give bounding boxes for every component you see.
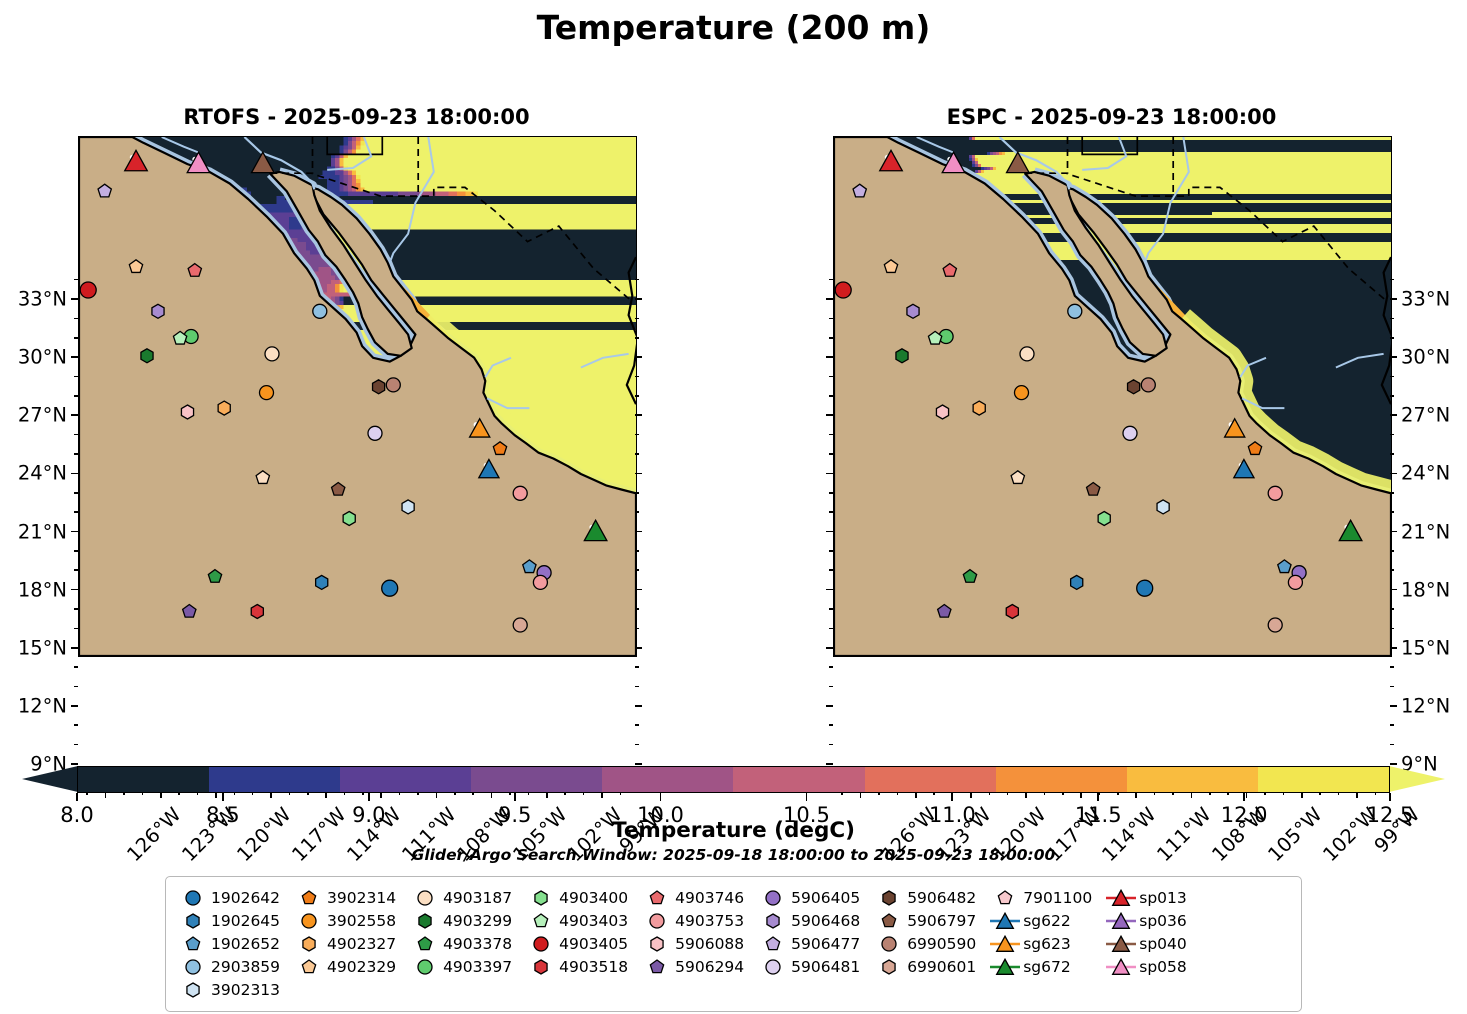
legend-item-3902313[interactable]: 3902313 (178, 978, 294, 1001)
lat-minor-tick (1390, 453, 1394, 455)
legend-item-4903397[interactable]: 4903397 (410, 955, 526, 978)
legend-item-label: sp040 (1136, 935, 1201, 953)
legend-marker-icon (178, 886, 208, 909)
legend-marker-icon (642, 955, 672, 978)
lat-minor-tick (74, 628, 78, 630)
lat-minor-tick (635, 511, 639, 513)
legend-marker-icon (1106, 955, 1136, 978)
legend-marker-icon (410, 932, 440, 955)
lat-tick (826, 473, 833, 475)
lat-tick (826, 763, 833, 765)
lat-minor-tick (829, 569, 833, 571)
legend-item-label: 4903187 (440, 889, 526, 907)
lat-tick (71, 298, 78, 300)
map-marker-4903187 (1020, 347, 1034, 361)
colorbar-tick (368, 793, 370, 801)
lat-tick (71, 763, 78, 765)
map-marker-5906468 (152, 304, 164, 318)
legend-marker-icon (526, 932, 556, 955)
lat-tick (1390, 531, 1397, 533)
lat-minor-tick (1390, 550, 1394, 552)
lat-minor-tick (1390, 279, 1394, 281)
lat-minor-tick (635, 492, 639, 494)
legend-item-label: 5906477 (788, 935, 874, 953)
lat-tick (71, 647, 78, 649)
legend-item-label: 4902327 (324, 935, 410, 953)
lat-minor-tick (829, 666, 833, 668)
colorbar-tick (951, 793, 953, 801)
map-marker-4903753b (533, 575, 547, 589)
lat-minor-tick (1390, 318, 1394, 320)
colorbar-band (340, 767, 471, 792)
legend-marker-icon (990, 932, 1020, 955)
lat-tick-label: 15°N (1401, 636, 1450, 659)
legend-item-sp036[interactable]: sp036 (1106, 909, 1201, 932)
lat-tick (1390, 298, 1397, 300)
lat-tick (635, 763, 642, 765)
lat-minor-tick (74, 337, 78, 339)
lat-minor-tick (829, 279, 833, 281)
lat-tick (826, 647, 833, 649)
legend-item-label: 4903518 (556, 958, 642, 976)
legend-item-label: sg672 (1020, 958, 1085, 976)
map-marker-4903400 (1098, 512, 1110, 526)
lat-minor-tick (829, 492, 833, 494)
legend-marker-icon (990, 909, 1020, 932)
lat-minor-tick (829, 376, 833, 378)
legend-item-label: sg623 (1020, 935, 1085, 953)
lat-minor-tick (635, 628, 639, 630)
lat-minor-tick (74, 550, 78, 552)
legend-marker-icon (642, 909, 672, 932)
legend-item-label: 5906482 (904, 889, 990, 907)
lat-tick-label: 24°N (1401, 462, 1450, 485)
map-marker-5906481 (368, 426, 382, 440)
lat-minor-tick (1390, 337, 1394, 339)
lat-minor-tick (1390, 744, 1394, 746)
legend-marker-icon (874, 932, 904, 955)
panel-rtofs: RTOFS - 2025-09-23 18:00:00 33°N30°N27°N… (78, 136, 635, 655)
lat-minor-tick (829, 628, 833, 630)
lat-tick (635, 356, 642, 358)
lat-minor-tick (74, 569, 78, 571)
lat-minor-tick (1390, 569, 1394, 571)
map-marker-1902642 (382, 580, 398, 596)
panel-rtofs-title: RTOFS - 2025-09-23 18:00:00 (78, 105, 635, 129)
legend-item-label: 3902558 (324, 912, 410, 930)
lat-tick (826, 531, 833, 533)
map-marker-4903405 (80, 282, 96, 298)
lat-tick (635, 705, 642, 707)
lat-tick (826, 414, 833, 416)
legend-marker-icon (178, 909, 208, 932)
legend-marker-icon (642, 932, 672, 955)
map-marker-6990590 (1141, 378, 1155, 392)
legend-marker-icon (990, 886, 1020, 909)
lat-minor-tick (1390, 434, 1394, 436)
colorbar-tick (806, 793, 808, 801)
legend-item-5906088[interactable]: 5906088 (642, 932, 758, 955)
legend-marker-icon (874, 955, 904, 978)
legend-item-4903400[interactable]: 4903400 (526, 886, 642, 909)
legend-item-sp040[interactable]: sp040 (1106, 932, 1201, 955)
map-marker-3902313 (1157, 500, 1169, 514)
lat-tick (71, 589, 78, 591)
map-marker-4903187 (265, 347, 279, 361)
map-marker-2903859 (313, 304, 327, 318)
map-axes-espc[interactable] (833, 136, 1392, 657)
colorbar-band (733, 767, 864, 792)
lat-minor-tick (1390, 608, 1394, 610)
legend-marker-icon (758, 932, 788, 955)
map-marker-5906088 (181, 405, 193, 419)
legend-item-5906481[interactable]: 5906481 (758, 955, 874, 978)
legend-marker-icon (758, 955, 788, 978)
lat-minor-tick (635, 744, 639, 746)
lat-minor-tick (74, 686, 78, 688)
map-marker-3902558 (260, 386, 274, 400)
legend-item-3902314[interactable]: 3902314 (294, 886, 410, 909)
map-marker-4903753b (1288, 575, 1302, 589)
lat-tick (635, 589, 642, 591)
legend-column: 7901100sg622sg623sg672 (990, 886, 1106, 978)
legend-item-sp058[interactable]: sp058 (1106, 955, 1201, 978)
colorbar-band (209, 767, 340, 792)
legend-item-4903403[interactable]: 4903403 (526, 909, 642, 932)
lat-tick-label: 24°N (18, 462, 67, 485)
map-marker-4903299 (896, 349, 908, 363)
lat-minor-tick (635, 550, 639, 552)
map-axes-rtofs[interactable] (78, 136, 637, 657)
legend-marker-icon (990, 955, 1020, 978)
legend-item-label: 5906405 (788, 889, 874, 907)
map-marker-6990601 (1268, 618, 1282, 632)
map-marker-1902645 (1071, 575, 1083, 589)
lat-minor-tick (829, 608, 833, 610)
lat-tick (826, 298, 833, 300)
legend-column: 5906405590646859064775906481 (758, 886, 874, 978)
legend-item-label: 5906088 (672, 935, 758, 953)
legend-item-label: 3902313 (208, 981, 294, 999)
map-marker-6990590 (386, 378, 400, 392)
legend-item-7901100[interactable]: 7901100 (990, 886, 1106, 909)
lat-minor-tick (74, 744, 78, 746)
lat-tick-label: 33°N (18, 288, 67, 311)
legend-item-label: 4903378 (440, 935, 526, 953)
legend-item-label: 5906468 (788, 912, 874, 930)
lat-tick-label: 18°N (18, 578, 67, 601)
colorbar-tick (76, 793, 78, 801)
legend-item-label: 5906797 (904, 912, 990, 930)
lat-minor-tick (635, 666, 639, 668)
colorbar-band (996, 767, 1127, 792)
legend-item-4903187[interactable]: 4903187 (410, 886, 526, 909)
legend-item-5906482[interactable]: 5906482 (874, 886, 990, 909)
map-marker-4903753 (513, 486, 527, 500)
lat-minor-tick (829, 453, 833, 455)
lat-tick-label: 33°N (1401, 288, 1450, 311)
lat-minor-tick (635, 608, 639, 610)
legend-marker-icon (874, 886, 904, 909)
legend-marker-icon (410, 886, 440, 909)
legend-item-label: 2903859 (208, 958, 294, 976)
colorbar: 8.08.59.09.510.010.511.011.512.012.5 (22, 766, 1445, 793)
colorbar-extend-high (1389, 766, 1445, 792)
map-marker-1902642 (1137, 580, 1153, 596)
panel-espc-title: ESPC - 2025-09-23 18:00:00 (833, 105, 1390, 129)
lat-minor-tick (1390, 395, 1394, 397)
lat-minor-tick (74, 511, 78, 513)
legend-item-sp013[interactable]: sp013 (1106, 886, 1201, 909)
map-marker-5906482 (1128, 380, 1140, 394)
lat-minor-tick (829, 744, 833, 746)
colorbar-tick (1097, 793, 1099, 801)
legend-column: 4903400490340349034054903518 (526, 886, 642, 978)
legend-item-6990590[interactable]: 6990590 (874, 932, 990, 955)
figure-canvas: Temperature (200 m) RTOFS - 2025-09-23 1… (0, 0, 1467, 1014)
legend-marker-icon (178, 978, 208, 1001)
legend-item-5906477[interactable]: 5906477 (758, 932, 874, 955)
lat-minor-tick (1390, 724, 1394, 726)
lat-tick (826, 356, 833, 358)
legend-item-label: 1902652 (208, 935, 294, 953)
lat-minor-tick (1390, 376, 1394, 378)
legend-item-label: 1902642 (208, 889, 294, 907)
legend-item-label: 1902645 (208, 912, 294, 930)
page-title: Temperature (200 m) (0, 8, 1467, 47)
legend-item-label: 6990590 (904, 935, 990, 953)
lat-tick (71, 705, 78, 707)
map-marker-4903518 (1006, 605, 1018, 619)
lat-minor-tick (74, 376, 78, 378)
lat-minor-tick (635, 686, 639, 688)
legend-marker-icon (294, 955, 324, 978)
lat-tick-label: 21°N (18, 520, 67, 543)
legend-marker-icon (294, 932, 324, 955)
legend-item-1902642[interactable]: 1902642 (178, 886, 294, 909)
colorbar-tick (514, 793, 516, 801)
lat-tick (1390, 705, 1397, 707)
map-marker-3902558 (1015, 386, 1029, 400)
map-marker-4903753 (1268, 486, 1282, 500)
legend-item-2903859[interactable]: 2903859 (178, 955, 294, 978)
legend-item-label: 4903400 (556, 889, 642, 907)
legend-item-4902329[interactable]: 4902329 (294, 955, 410, 978)
map-marker-1902645 (316, 575, 328, 589)
lat-tick (71, 414, 78, 416)
lat-tick (1390, 647, 1397, 649)
colorbar-tick (660, 793, 662, 801)
lat-minor-tick (74, 608, 78, 610)
legend-item-label: 6990601 (904, 958, 990, 976)
legend-item-6990601[interactable]: 6990601 (874, 955, 990, 978)
map-marker-4903299 (141, 349, 153, 363)
legend-marker-icon (294, 909, 324, 932)
map-marker-5906481 (1123, 426, 1137, 440)
lat-tick-label: 21°N (1401, 520, 1450, 543)
colorbar-label: Temperature (degC) (0, 818, 1467, 843)
lat-minor-tick (635, 569, 639, 571)
lat-tick (635, 298, 642, 300)
map-marker-4903400 (343, 512, 355, 526)
legend-marker-icon (1106, 909, 1136, 932)
map-marker-5906482 (373, 380, 385, 394)
legend-item-label: sg622 (1020, 912, 1085, 930)
legend-item-4903299[interactable]: 4903299 (410, 909, 526, 932)
legend-item-4903378[interactable]: 4903378 (410, 932, 526, 955)
legend-column: sp013sp036sp040sp058 (1106, 886, 1201, 978)
legend-marker-icon (1106, 932, 1136, 955)
lat-minor-tick (829, 395, 833, 397)
lat-tick (826, 705, 833, 707)
lat-tick-label: 18°N (1401, 578, 1450, 601)
legend-column: 4903746490375359060885906294 (642, 886, 758, 978)
lat-minor-tick (635, 453, 639, 455)
lat-minor-tick (635, 337, 639, 339)
legend-item-label: 4903299 (440, 912, 526, 930)
legend-item-label: 4903397 (440, 958, 526, 976)
colorbar-band (865, 767, 996, 792)
legend-item-sg622[interactable]: sg622 (990, 909, 1106, 932)
lat-minor-tick (74, 279, 78, 281)
lat-minor-tick (1390, 686, 1394, 688)
legend-marker-icon (1106, 886, 1136, 909)
legend-item-label: 4903746 (672, 889, 758, 907)
lat-minor-tick (829, 511, 833, 513)
colorbar-band (602, 767, 733, 792)
map-marker-6990601 (513, 618, 527, 632)
map-marker-4903405 (835, 282, 851, 298)
lat-minor-tick (74, 492, 78, 494)
legend-item-4903753[interactable]: 4903753 (642, 909, 758, 932)
colorbar-extend-low (22, 766, 78, 792)
lat-minor-tick (829, 724, 833, 726)
map-marker-5906468 (907, 304, 919, 318)
colorbar-tick (1389, 793, 1391, 801)
lat-tick (635, 473, 642, 475)
legend-marker-icon (758, 886, 788, 909)
legend-item-label: 4903405 (556, 935, 642, 953)
legend-marker-icon (526, 909, 556, 932)
legend-item-label: 5906481 (788, 958, 874, 976)
colorbar-band (1127, 767, 1258, 792)
legend-item-5906405[interactable]: 5906405 (758, 886, 874, 909)
lat-minor-tick (635, 376, 639, 378)
legend-marker-icon (874, 909, 904, 932)
legend-item-label: 4903753 (672, 912, 758, 930)
lat-minor-tick (74, 453, 78, 455)
lat-minor-tick (635, 434, 639, 436)
legend-item-4902327[interactable]: 4902327 (294, 932, 410, 955)
legend-item-5906797[interactable]: 5906797 (874, 909, 990, 932)
legend-item-sg672[interactable]: sg672 (990, 955, 1106, 978)
lat-minor-tick (74, 395, 78, 397)
lat-minor-tick (1390, 492, 1394, 494)
legend-item-3902558[interactable]: 3902558 (294, 909, 410, 932)
legend-item-label: sp058 (1136, 958, 1201, 976)
lat-minor-tick (635, 724, 639, 726)
legend-item-label: 7901100 (1020, 889, 1106, 907)
colorbar-gradient (77, 766, 1390, 793)
lat-minor-tick (829, 337, 833, 339)
map-marker-3902313 (402, 500, 414, 514)
lat-minor-tick (829, 686, 833, 688)
lat-minor-tick (74, 434, 78, 436)
lat-minor-tick (829, 318, 833, 320)
map-marker-2903859 (1068, 304, 1082, 318)
legend-item-label: sp036 (1136, 912, 1201, 930)
lat-tick (635, 414, 642, 416)
lat-tick (635, 531, 642, 533)
lat-tick (71, 531, 78, 533)
lat-minor-tick (829, 550, 833, 552)
legend-item-label: sp013 (1136, 889, 1201, 907)
lat-tick (71, 356, 78, 358)
legend-column: 5906482590679769905906990601 (874, 886, 990, 978)
legend-item-label: 5906294 (672, 958, 758, 976)
legend-marker-icon (178, 932, 208, 955)
legend-item-label: 3902314 (324, 889, 410, 907)
lat-tick-label: 12°N (1401, 694, 1450, 717)
legend-marker-icon (178, 955, 208, 978)
panel-espc: ESPC - 2025-09-23 18:00:00 33°N30°N27°N2… (833, 136, 1390, 655)
colorbar-band (1258, 767, 1389, 792)
legend-column: 4903187490329949033784903397 (410, 886, 526, 978)
legend-marker-icon (642, 886, 672, 909)
legend-marker-icon (526, 955, 556, 978)
legend-item-5906468[interactable]: 5906468 (758, 909, 874, 932)
legend-item-sg623[interactable]: sg623 (990, 932, 1106, 955)
legend-marker-icon (294, 886, 324, 909)
lat-tick (635, 647, 642, 649)
legend-column: 3902314390255849023274902329 (294, 886, 410, 978)
lat-tick (1390, 356, 1397, 358)
lat-minor-tick (74, 666, 78, 668)
colorbar-band (471, 767, 602, 792)
colorbar-tick (1243, 793, 1245, 801)
legend-item-label: 4902329 (324, 958, 410, 976)
lat-tick (1390, 473, 1397, 475)
lat-minor-tick (635, 318, 639, 320)
legend[interactable]: 1902642190264519026522903859390231339023… (165, 876, 1302, 1012)
lat-tick (71, 473, 78, 475)
legend-item-4903518[interactable]: 4903518 (526, 955, 642, 978)
legend-item-4903405[interactable]: 4903405 (526, 932, 642, 955)
legend-item-1902645[interactable]: 1902645 (178, 909, 294, 932)
legend-marker-icon (410, 955, 440, 978)
legend-marker-icon (758, 909, 788, 932)
lat-tick-label: 15°N (18, 636, 67, 659)
map-marker-4902327 (218, 401, 230, 415)
legend-column: 19026421902645190265229038593902313 (178, 886, 294, 1001)
legend-item-label: 4903403 (556, 912, 642, 930)
map-marker-5906088 (936, 405, 948, 419)
colorbar-band (78, 767, 209, 792)
lat-tick (826, 589, 833, 591)
map-marker-4903518 (251, 605, 263, 619)
legend-marker-icon (410, 909, 440, 932)
lat-minor-tick (635, 395, 639, 397)
search-window-caption: Glider/Argo Search Window: 2025-09-18 18… (0, 846, 1467, 864)
lat-tick (1390, 414, 1397, 416)
lat-tick-label: 27°N (1401, 404, 1450, 427)
legend-item-4903746[interactable]: 4903746 (642, 886, 758, 909)
legend-item-5906294[interactable]: 5906294 (642, 955, 758, 978)
lat-tick (1390, 589, 1397, 591)
legend-item-1902652[interactable]: 1902652 (178, 932, 294, 955)
lat-minor-tick (1390, 628, 1394, 630)
map-marker-4902327 (973, 401, 985, 415)
